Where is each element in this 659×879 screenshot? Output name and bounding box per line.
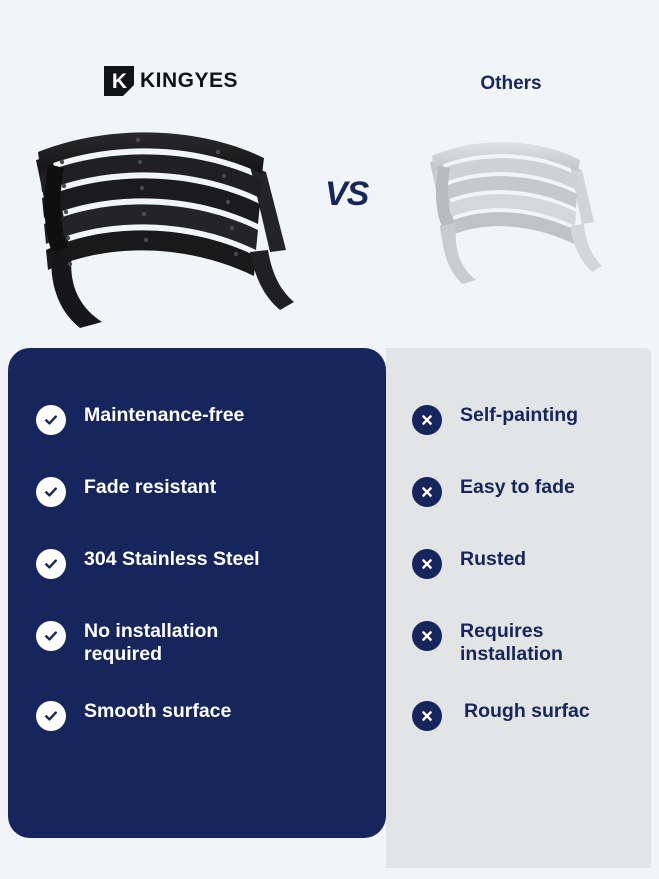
comparison-panels: Maintenance-free Fade resistant 304 Stai… xyxy=(8,348,651,868)
cross-icon xyxy=(412,621,442,651)
product-comparison-images: VS xyxy=(0,90,659,335)
check-icon xyxy=(36,621,66,651)
header-row: K KINGYES Others xyxy=(0,30,659,85)
cross-icon xyxy=(412,477,442,507)
kingyes-feature-list: Maintenance-free Fade resistant 304 Stai… xyxy=(36,404,366,772)
brand-mark-letter: K xyxy=(112,71,126,92)
list-item: Maintenance-free xyxy=(36,404,366,438)
vs-label: VS xyxy=(325,175,368,214)
list-item: 304 Stainless Steel xyxy=(36,548,366,582)
list-item: Requires installation xyxy=(412,620,652,666)
check-icon xyxy=(36,405,66,435)
feature-label: Rough surfac xyxy=(464,700,590,723)
feature-label: 304 Stainless Steel xyxy=(84,548,260,571)
feature-label: Requires installation xyxy=(460,620,563,666)
feature-label: Fade resistant xyxy=(84,476,216,499)
list-item: Rough surfac xyxy=(412,700,652,734)
cross-icon xyxy=(412,549,442,579)
check-icon xyxy=(36,477,66,507)
list-item: Fade resistant xyxy=(36,476,366,510)
check-icon xyxy=(36,701,66,731)
others-ottoman-image xyxy=(420,122,610,312)
feature-label: No installation required xyxy=(84,620,218,666)
list-item: Easy to fade xyxy=(412,476,652,510)
check-icon xyxy=(36,549,66,579)
comparison-infographic: K KINGYES Others xyxy=(0,0,659,879)
kingyes-ottoman-image xyxy=(18,100,318,330)
feature-label: Smooth surface xyxy=(84,700,231,723)
cross-icon xyxy=(412,701,442,731)
feature-label: Self-painting xyxy=(460,404,578,427)
feature-label: Rusted xyxy=(460,548,526,571)
others-feature-list: Self-painting Easy to fade Rusted Requir… xyxy=(412,404,652,772)
feature-label: Easy to fade xyxy=(460,476,575,499)
feature-label: Maintenance-free xyxy=(84,404,244,427)
list-item: Smooth surface xyxy=(36,700,366,734)
cross-icon xyxy=(412,405,442,435)
kingyes-panel: Maintenance-free Fade resistant 304 Stai… xyxy=(8,348,386,838)
list-item: Self-painting xyxy=(412,404,652,438)
list-item: Rusted xyxy=(412,548,652,582)
list-item: No installation required xyxy=(36,620,366,666)
